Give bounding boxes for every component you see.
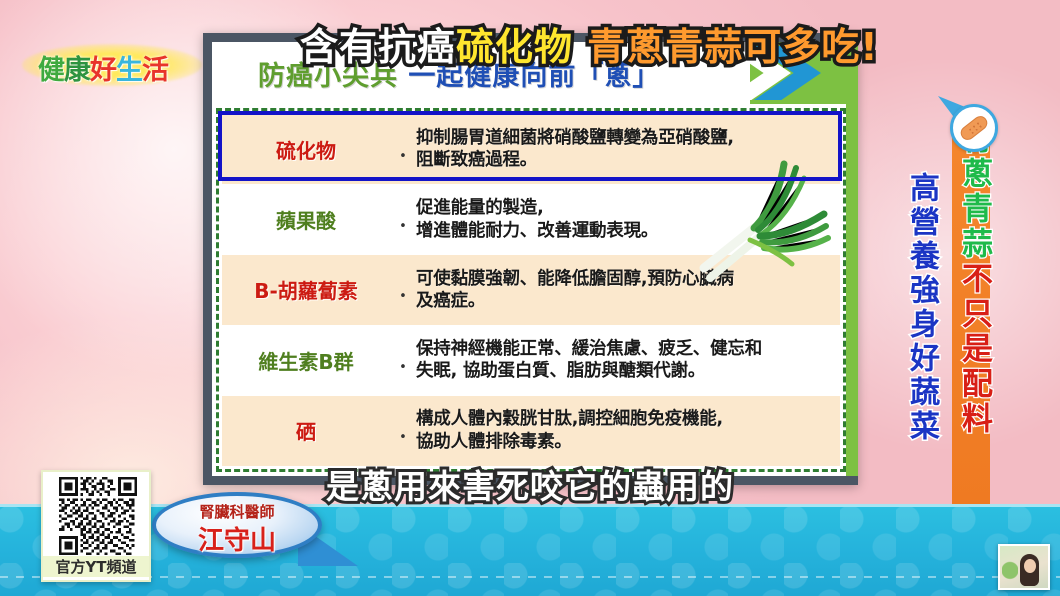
logo-char-4: 生 [116, 55, 142, 86]
qr-code-label: 官方YT頻道 [43, 556, 149, 577]
qr-code-block[interactable]: 官方YT頻道 [41, 470, 151, 582]
nutrient-name: 硫化物 [222, 114, 390, 184]
thumbnail-plant [1002, 560, 1018, 586]
nutrient-table-frame: 硫化物 • 抑制腸胃道細菌將硝酸鹽轉變為亞硝酸鹽, 阻斷致癌過程。 蘋果酸 • [216, 108, 846, 472]
table-row: 維生素B群 • 保持神經機能正常、緩治焦慮、疲乏、健忘和 失眠, 協助蛋白質、脂… [222, 325, 840, 395]
logo-char-2: 康 [64, 55, 90, 86]
bullet-icon: • [390, 325, 416, 395]
desc-line: 保持神經機能正常、緩治焦慮、疲乏、健忘和 [416, 338, 830, 360]
desc-line: 協助人體排除毒素。 [416, 431, 830, 453]
logo-char-3: 好 [90, 55, 116, 86]
desc-line: 構成人體內穀胱甘肽,調控細胞免疫機能, [416, 408, 830, 430]
slide-right-green-strip [846, 104, 858, 476]
presenter-thumbnail[interactable] [998, 544, 1050, 590]
doctor-name-badge: 腎臟科醫師 江守山 [152, 492, 322, 558]
desc-line: 失眠, 協助蛋白質、脂肪與醣類代謝。 [416, 360, 830, 382]
doctor-specialty: 腎臟科醫師 [152, 501, 322, 522]
table-row: B-胡蘿蔔素 • 可使黏膜強韌、能降低膽固醇,預防心臟病 及癌症。 [222, 255, 840, 325]
presentation-slide: 防癌小尖兵 一起健康向前「蔥」 硫化物 • 抑制腸胃道細菌將硝酸鹽轉變為亞硝酸鹽… [203, 33, 858, 485]
qr-code-icon [50, 477, 146, 555]
vertical-title-left: 高營養強身好蔬菜 [906, 172, 936, 444]
bullet-icon: • [390, 255, 416, 325]
nutrient-name: 維生素B群 [222, 325, 390, 395]
nutrient-description: 保持神經機能正常、緩治焦慮、疲乏、健忘和 失眠, 協助蛋白質、脂肪與醣類代謝。 [416, 325, 840, 395]
slide-inner: 防癌小尖兵 一起健康向前「蔥」 硫化物 • 抑制腸胃道細菌將硝酸鹽轉變為亞硝酸鹽… [212, 42, 858, 476]
logo-char-1: 健 [38, 55, 64, 86]
banner-headline: 含有抗癌硫化物 青蔥青蒜可多吃! [300, 16, 879, 71]
nutrient-table: 硫化物 • 抑制腸胃道細菌將硝酸鹽轉變為亞硝酸鹽, 阻斷致癌過程。 蘋果酸 • [222, 114, 840, 466]
bullet-icon: • [390, 184, 416, 254]
video-frame: 健康好生活 防癌小尖兵 一起健康向前「蔥」 硫化物 • [0, 0, 1060, 596]
table-row: 硒 • 構成人體內穀胱甘肽,調控細胞免疫機能, 協助人體排除毒素。 [222, 396, 840, 466]
bullet-icon: • [390, 396, 416, 466]
desc-line: 促進能量的製造, [416, 197, 830, 219]
desc-line: 抑制腸胃道細菌將硝酸鹽轉變為亞硝酸鹽, [416, 127, 830, 149]
desc-line: 可使黏膜強韌、能降低膽固醇,預防心臟病 [416, 268, 830, 290]
logo-char-5: 活 [142, 55, 168, 86]
banner-part-1: 含有抗癌 [300, 25, 456, 69]
nutrient-name: B-胡蘿蔔素 [222, 255, 390, 325]
vertical-title-right: 青蔥青蒜不只是配料 [958, 122, 989, 437]
banner-divider [0, 576, 1060, 578]
nutrient-name: 蘋果酸 [222, 184, 390, 254]
nutrient-name: 硒 [222, 396, 390, 466]
desc-line: 及癌症。 [416, 290, 830, 312]
nutrient-description: 可使黏膜強韌、能降低膽固醇,預防心臟病 及癌症。 [416, 255, 840, 325]
banner-part-3: 青蔥青蒜可多吃! [587, 25, 878, 69]
doctor-name: 江守山 [152, 520, 322, 557]
thumbnail-face [1024, 559, 1036, 573]
show-logo-text: 健康好生活 [38, 48, 168, 87]
show-logo: 健康好生活 [22, 42, 202, 88]
bullet-icon: • [390, 114, 416, 184]
bandage-icon [950, 104, 998, 152]
banner-part-2: 硫化物 [456, 25, 573, 69]
table-row: 硫化物 • 抑制腸胃道細菌將硝酸鹽轉變為亞硝酸鹽, 阻斷致癌過程。 [222, 114, 840, 184]
desc-line: 增進體能耐力、改善運動表現。 [416, 220, 830, 242]
desc-line: 阻斷致癌過程。 [416, 149, 830, 171]
nutrient-description: 構成人體內穀胱甘肽,調控細胞免疫機能, 協助人體排除毒素。 [416, 396, 840, 466]
nutrient-description: 抑制腸胃道細菌將硝酸鹽轉變為亞硝酸鹽, 阻斷致癌過程。 [416, 114, 840, 184]
table-row: 蘋果酸 • 促進能量的製造, 增進體能耐力、改善運動表現。 [222, 184, 840, 254]
nutrient-description: 促進能量的製造, 增進體能耐力、改善運動表現。 [416, 184, 840, 254]
vertical-title-red: 不只是配料 [956, 262, 992, 437]
